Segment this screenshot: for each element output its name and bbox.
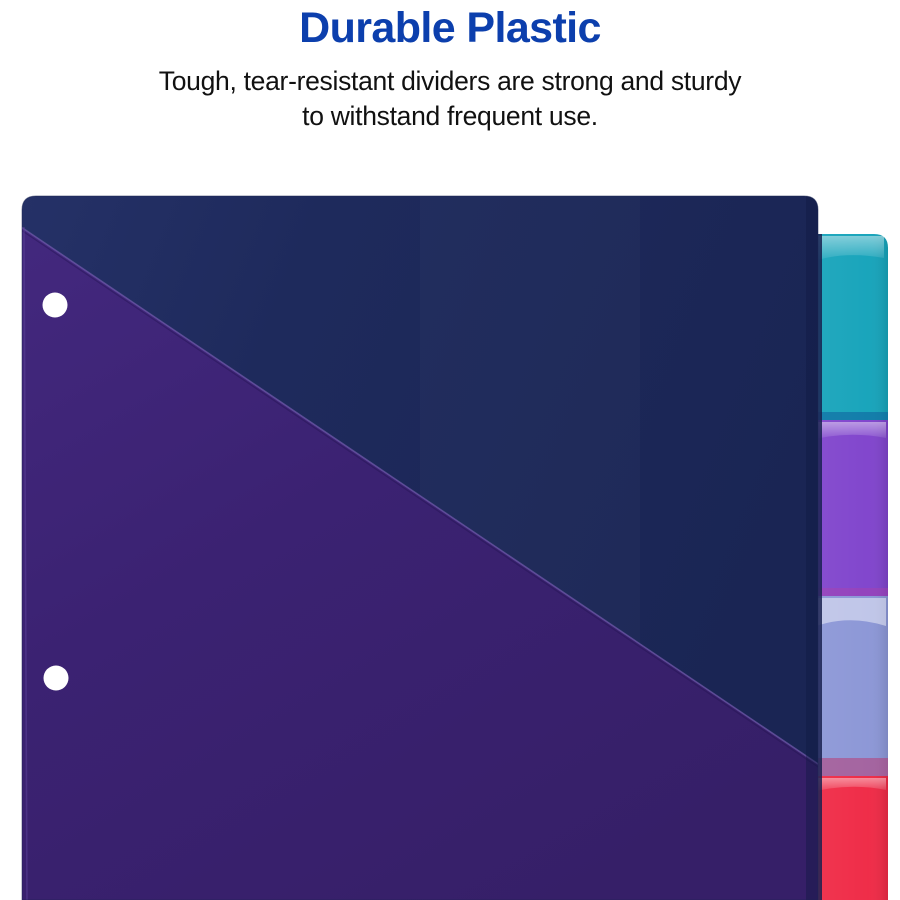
feature-text-block: Durable Plastic Tough, tear-resistant di… bbox=[0, 0, 900, 180]
page-title: Durable Plastic bbox=[0, 0, 900, 52]
dividers-illustration bbox=[0, 180, 900, 900]
page-subtitle-line-1: Tough, tear-resistant dividers are stron… bbox=[0, 64, 900, 99]
divider-sheets bbox=[18, 192, 824, 900]
hole-punch-bottom bbox=[44, 666, 69, 691]
page-subtitle: Tough, tear-resistant dividers are stron… bbox=[0, 52, 900, 134]
product-feature-panel: Durable Plastic Tough, tear-resistant di… bbox=[0, 0, 900, 900]
hole-punch-top bbox=[43, 293, 68, 318]
product-image bbox=[0, 180, 900, 900]
page-subtitle-line-2: to withstand frequent use. bbox=[0, 99, 900, 134]
